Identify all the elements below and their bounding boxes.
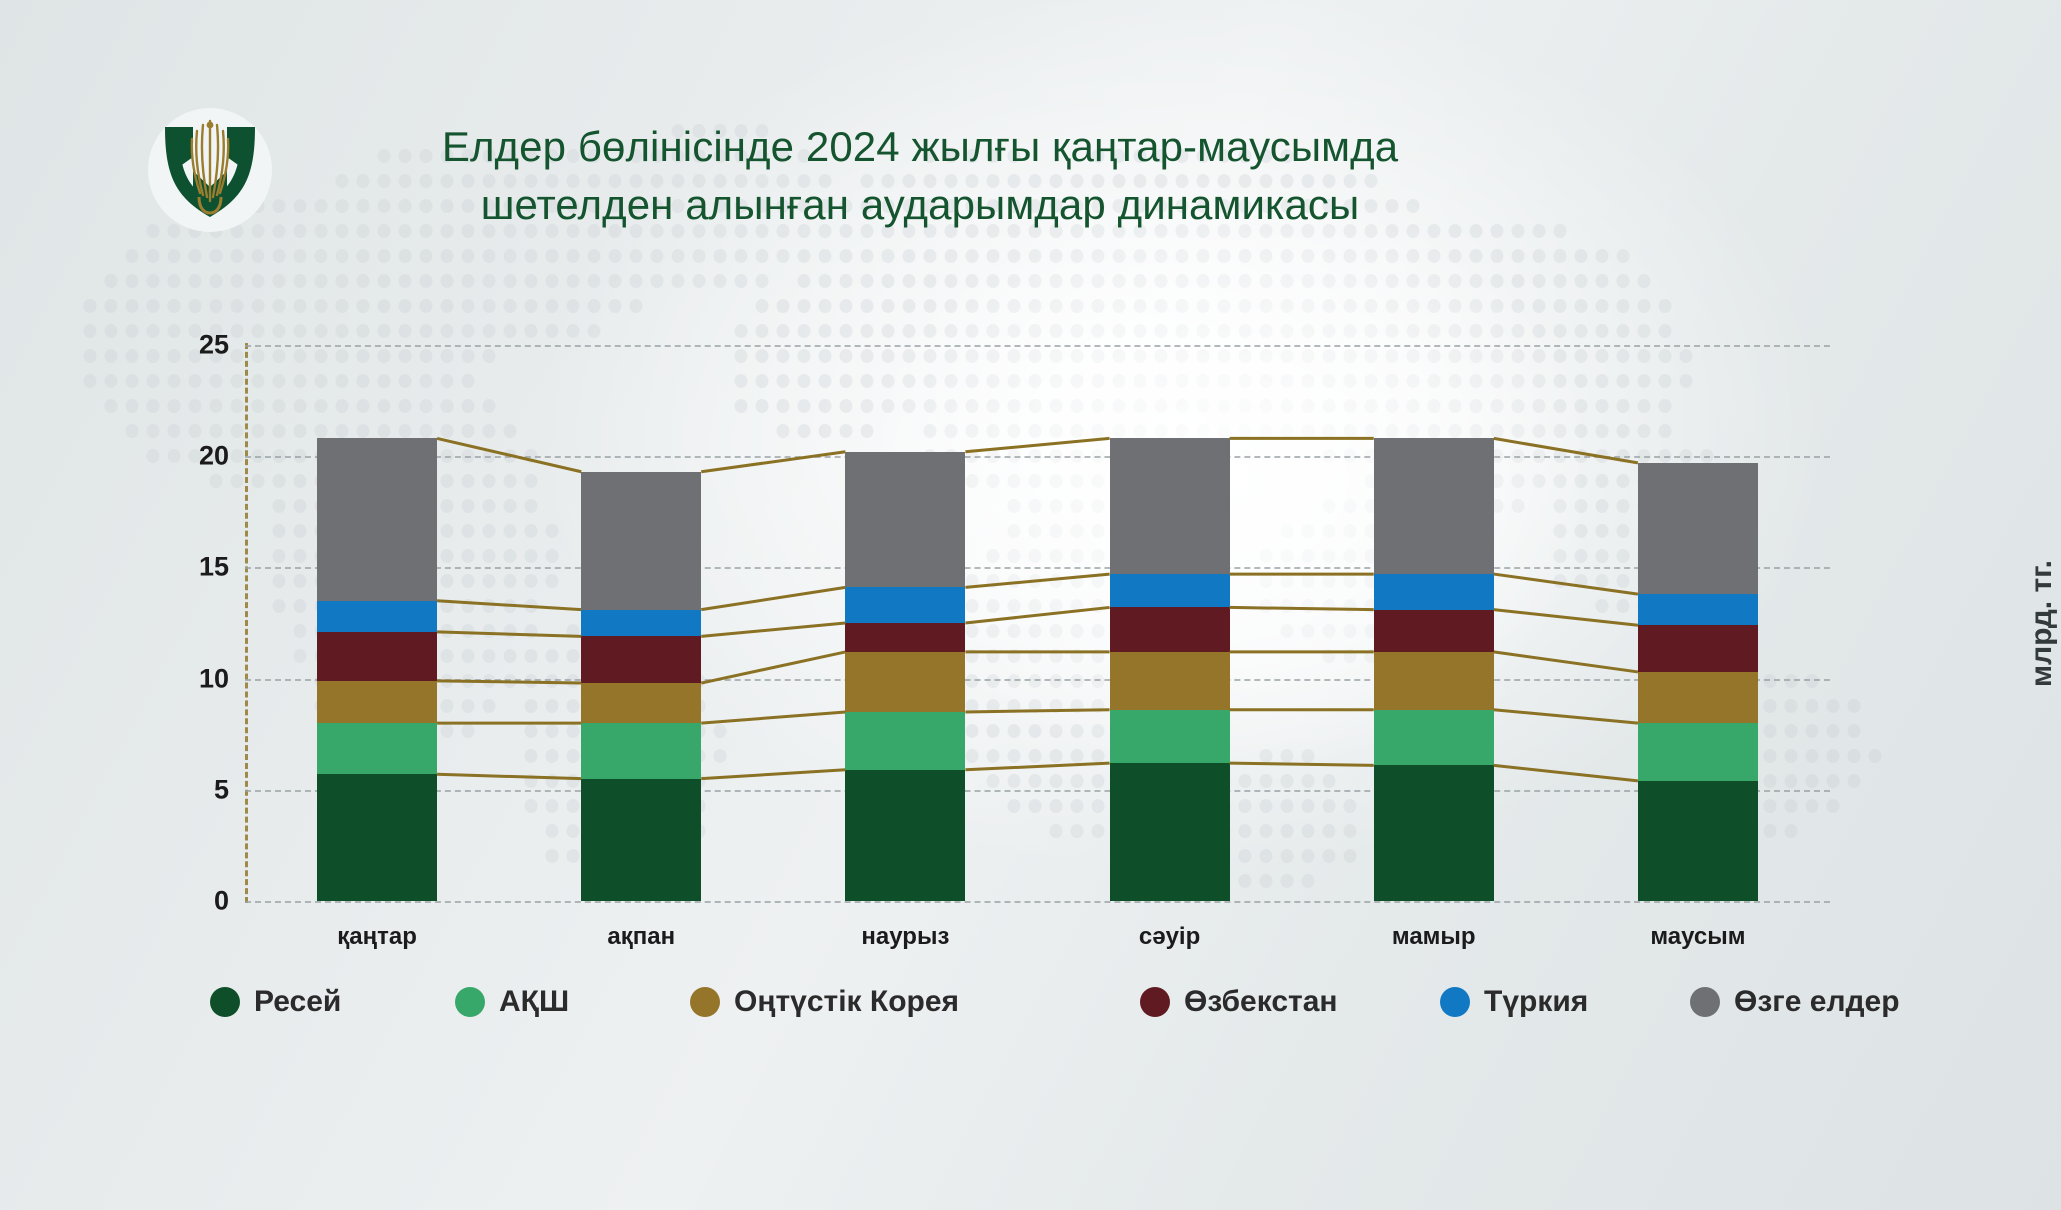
y-gridline xyxy=(245,679,1830,681)
x-axis-tick-label: қаңтар xyxy=(257,923,497,951)
bar-segment xyxy=(1638,672,1758,723)
y-gridline xyxy=(245,901,1830,903)
legend-item-1[interactable]: Ресей xyxy=(210,985,341,1019)
legend-color-swatch-icon xyxy=(690,987,720,1017)
chart-legend: РесейАҚШОңтүстік КореяӨзбекстанТүркияӨзг… xyxy=(210,985,1890,1025)
legend-item-3[interactable]: Оңтүстік Корея xyxy=(690,985,959,1019)
y-axis-tick-label: 20 xyxy=(159,441,229,472)
legend-item-5[interactable]: Түркия xyxy=(1440,985,1588,1019)
stacked-bar-chart: 2520151050 қаңтарақпаннаурызсәуірмамырма… xyxy=(0,0,2061,1210)
bar-segment xyxy=(845,770,965,901)
bar-segment xyxy=(845,452,965,588)
bar-segment xyxy=(845,623,965,652)
bar-segment xyxy=(581,472,701,610)
bar-segment xyxy=(317,438,437,600)
bar-segment xyxy=(1638,723,1758,781)
legend-color-swatch-icon xyxy=(1440,987,1470,1017)
bar-segment xyxy=(1638,781,1758,901)
legend-item-2[interactable]: АҚШ xyxy=(455,985,569,1019)
bar-segment xyxy=(317,601,437,632)
bar-segment xyxy=(581,683,701,723)
bar-segment xyxy=(1638,463,1758,594)
bar-segment xyxy=(1374,765,1494,901)
legend-item-6[interactable]: Өзге елдер xyxy=(1690,985,1900,1019)
bar-segment xyxy=(845,652,965,712)
x-axis-tick-label: наурыз xyxy=(785,923,1025,951)
y-gridline xyxy=(245,567,1830,569)
y-gridline xyxy=(245,456,1830,458)
bar-segment xyxy=(1638,625,1758,672)
bar-segment xyxy=(317,632,437,681)
bar-segment xyxy=(317,723,437,774)
bar-segment xyxy=(1110,763,1230,901)
bar-segment xyxy=(581,610,701,637)
legend-item-label: Түркия xyxy=(1484,985,1588,1019)
y-axis-tick-label: 10 xyxy=(159,663,229,694)
bar-segment xyxy=(581,723,701,779)
y-axis-line xyxy=(245,343,248,903)
bar-segment xyxy=(1374,574,1494,610)
bar-segment xyxy=(1374,710,1494,766)
legend-item-4[interactable]: Өзбекстан xyxy=(1140,985,1338,1019)
x-axis-tick-label: ақпан xyxy=(521,923,761,951)
bar-segment xyxy=(1374,610,1494,652)
legend-item-label: Өзге елдер xyxy=(1734,985,1900,1019)
legend-color-swatch-icon xyxy=(210,987,240,1017)
y-axis-label: млрд. тг. xyxy=(2025,560,2059,687)
y-axis-tick-label: 5 xyxy=(159,774,229,805)
legend-color-swatch-icon xyxy=(1690,987,1720,1017)
infographic-canvas: Елдер бөлінісінде 2024 жылғы қаңтар-маус… xyxy=(0,0,2061,1210)
bar-segment xyxy=(317,774,437,901)
bar-segment xyxy=(1374,438,1494,574)
legend-color-swatch-icon xyxy=(455,987,485,1017)
x-axis-tick-label: мамыр xyxy=(1314,923,1554,951)
bar-segment xyxy=(1110,710,1230,763)
bar-segment xyxy=(845,587,965,623)
bar-segment xyxy=(1110,438,1230,574)
legend-item-label: Ресей xyxy=(254,985,341,1019)
bar-segment xyxy=(1638,594,1758,625)
legend-item-label: Оңтүстік Корея xyxy=(734,985,959,1019)
bar-segment xyxy=(1110,574,1230,607)
y-axis-tick-label: 15 xyxy=(159,552,229,583)
bar-segment xyxy=(1110,652,1230,710)
x-axis-tick-label: сәуір xyxy=(1050,923,1290,951)
y-gridline xyxy=(245,790,1830,792)
bar-segment xyxy=(845,712,965,770)
legend-color-swatch-icon xyxy=(1140,987,1170,1017)
bar-segment xyxy=(581,779,701,901)
bar-segment xyxy=(317,681,437,723)
legend-item-label: АҚШ xyxy=(499,985,569,1019)
x-axis-tick-label: маусым xyxy=(1578,923,1818,951)
bar-segment xyxy=(581,636,701,683)
y-axis-tick-label: 0 xyxy=(159,886,229,917)
y-gridline xyxy=(245,345,1830,347)
bar-segment xyxy=(1374,652,1494,710)
legend-item-label: Өзбекстан xyxy=(1184,985,1338,1019)
y-axis-tick-label: 25 xyxy=(159,330,229,361)
bar-segment xyxy=(1110,607,1230,651)
